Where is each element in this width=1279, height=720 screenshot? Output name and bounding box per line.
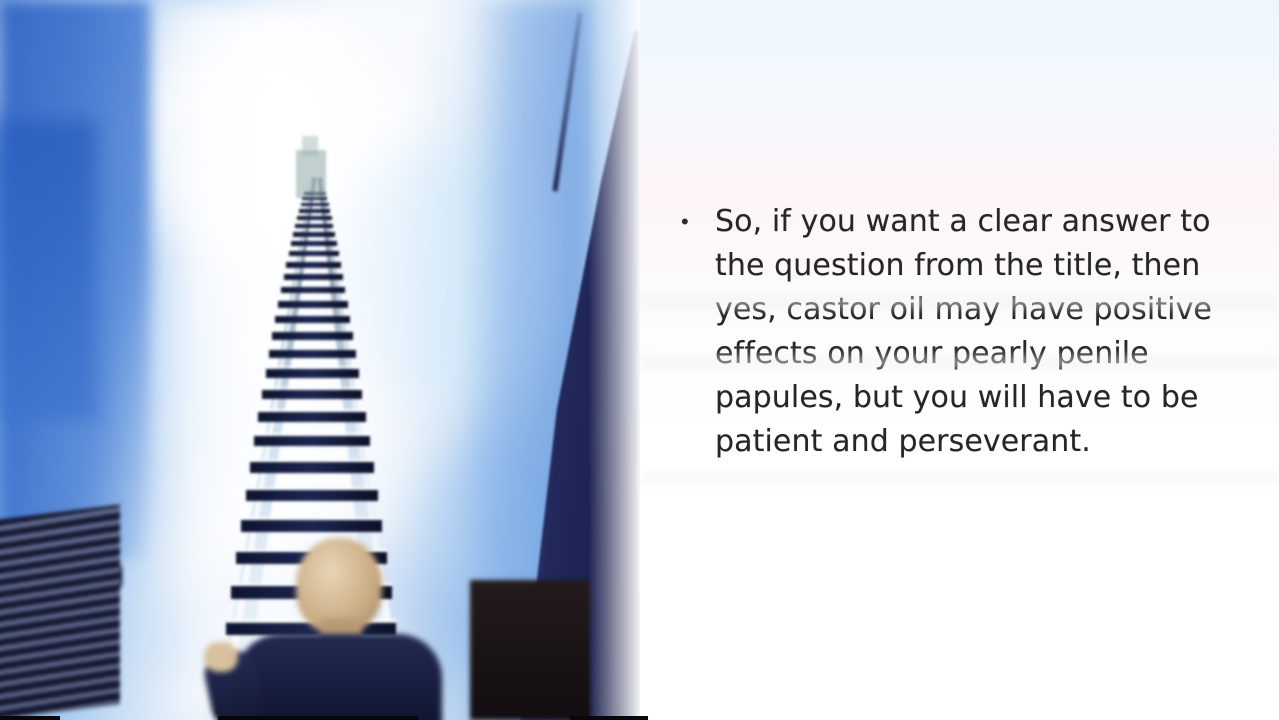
video-letterbox-right [570, 716, 648, 720]
businessman-figure [178, 530, 478, 720]
torso-suit [236, 634, 442, 720]
text-panel: • So, if you want a clear answer to the … [640, 0, 1279, 720]
video-letterbox-mid [218, 716, 418, 720]
bullet-marker-icon: • [676, 200, 715, 464]
ladder-to-sky-photo [0, 0, 648, 720]
presentation-slide: • So, if you want a clear answer to the … [0, 0, 1279, 720]
right-tower-base [470, 580, 590, 720]
bottom-left-striped-tower [0, 505, 120, 720]
hand-on-rung [204, 642, 238, 672]
bullet-list: • So, if you want a clear answer to the … [676, 200, 1251, 464]
photo-right-edge-fade [588, 0, 648, 720]
bullet-text: So, if you want a clear answer to the qu… [715, 200, 1251, 464]
video-letterbox-left [0, 716, 60, 720]
